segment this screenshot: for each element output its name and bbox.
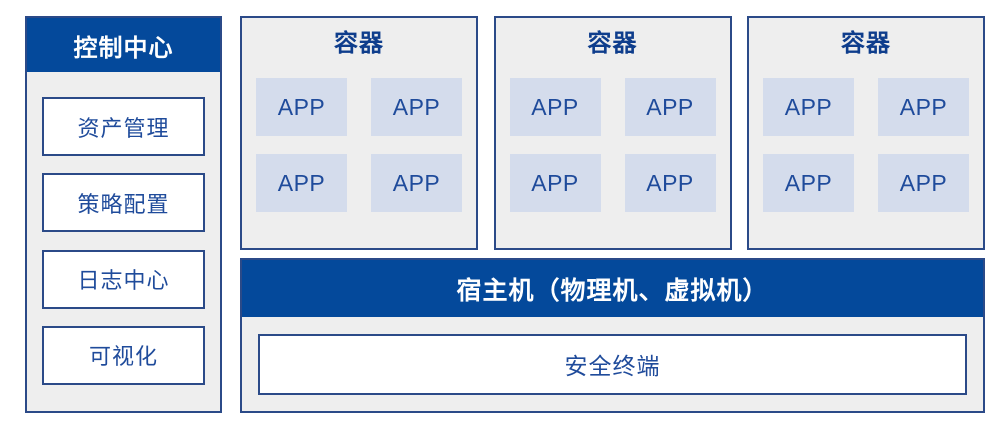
sidebar-item-label: 日志中心 (77, 263, 169, 295)
architecture-diagram: 控制中心 资产管理 策略配置 日志中心 可视化 容器 APP APP APP A… (0, 0, 1001, 437)
container-panel-1: 容器 APP APP APP APP (240, 16, 478, 250)
app-box: APP (371, 154, 462, 212)
sidebar-item-label: 策略配置 (77, 187, 169, 219)
sidebar-item-log-center[interactable]: 日志中心 (42, 250, 205, 309)
container-panel-title: 容器 (841, 32, 891, 56)
app-box: APP (878, 154, 969, 212)
sidebar-item-label: 资产管理 (77, 111, 169, 143)
app-box: APP (371, 78, 462, 136)
app-grid: APP APP APP APP (256, 78, 462, 212)
container-panels-row: 容器 APP APP APP APP 容器 APP APP APP APP 容器… (240, 16, 985, 250)
container-panel-3: 容器 APP APP APP APP (747, 16, 985, 250)
sidebar-item-label: 可视化 (89, 339, 158, 371)
app-box: APP (256, 78, 347, 136)
container-panel-title: 容器 (588, 32, 638, 56)
app-box: APP (510, 78, 601, 136)
app-box: APP (878, 78, 969, 136)
app-box: APP (510, 154, 601, 212)
sidebar-item-visualization[interactable]: 可视化 (42, 326, 205, 385)
host-machine-panel: 宿主机（物理机、虚拟机） 安全终端 (240, 258, 985, 413)
sidebar-item-policy-configuration[interactable]: 策略配置 (42, 173, 205, 232)
host-machine-body: 安全终端 (242, 317, 983, 411)
app-grid: APP APP APP APP (763, 78, 969, 212)
control-center-panel: 控制中心 资产管理 策略配置 日志中心 可视化 (25, 16, 222, 413)
container-panel-title: 容器 (334, 32, 384, 56)
app-box: APP (256, 154, 347, 212)
sidebar-item-asset-management[interactable]: 资产管理 (42, 97, 205, 156)
container-panel-2: 容器 APP APP APP APP (494, 16, 732, 250)
app-box: APP (763, 154, 854, 212)
control-center-header: 控制中心 (27, 18, 220, 72)
app-box: APP (625, 78, 716, 136)
security-terminal-box: 安全终端 (258, 334, 967, 395)
app-box: APP (763, 78, 854, 136)
app-box: APP (625, 154, 716, 212)
control-center-item-list: 资产管理 策略配置 日志中心 可视化 (27, 72, 220, 411)
app-grid: APP APP APP APP (510, 78, 716, 212)
host-machine-header: 宿主机（物理机、虚拟机） (242, 260, 983, 317)
